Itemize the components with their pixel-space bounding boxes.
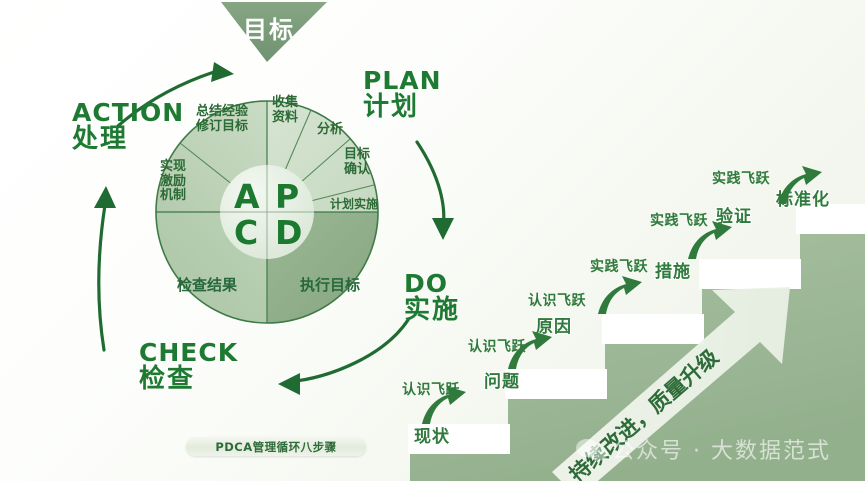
caption-text: PDCA管理循环八步骤: [215, 439, 336, 455]
center-letter-p: P: [275, 180, 299, 213]
check-result-label: 检查结果: [177, 274, 237, 295]
plan-step-0-line1: 收集: [272, 96, 298, 111]
plan-step-1-line1: 分析: [317, 123, 343, 138]
quadrant-label-check: CHECK 检查: [139, 340, 238, 394]
action-step-1: 实现 激励 机制: [160, 160, 186, 204]
goal-label: 目标: [243, 10, 295, 45]
quadrant-label-plan: PLAN 计划: [363, 68, 442, 122]
wechat-logo-icon: [575, 437, 609, 463]
plan-step-2-line2: 确认: [344, 163, 370, 178]
do-eng: DO: [404, 271, 460, 297]
action-step-0: 总结经验 修订目标: [196, 105, 248, 134]
action-eng: ACTION: [72, 100, 184, 126]
center-letter-a: A: [234, 180, 260, 213]
plan-step-2: 目标 确认: [344, 148, 370, 177]
plan-step-3-line1: 计划实施: [330, 198, 378, 211]
plan-step-0-line2: 资料: [272, 111, 298, 126]
plan-eng: PLAN: [363, 68, 442, 94]
center-letter-c: C: [234, 216, 258, 249]
center-letter-d: D: [275, 216, 302, 249]
plan-step-1: 分析: [317, 123, 343, 138]
quadrant-label-action: ACTION 处理: [72, 100, 184, 154]
action-step-0-line1: 总结经验: [196, 105, 248, 120]
caption-pill: PDCA管理循环八步骤: [186, 437, 366, 456]
check-chi: 检查: [139, 366, 238, 393]
check-eng: CHECK: [139, 340, 238, 366]
plan-chi: 计划: [363, 94, 442, 121]
do-target-label: 执行目标: [300, 274, 360, 295]
action-step-1-line1: 实现: [160, 160, 186, 175]
plan-step-2-line1: 目标: [344, 148, 370, 163]
action-step-0-line2: 修订目标: [196, 120, 248, 135]
action-step-1-line2: 激励: [160, 175, 186, 190]
plan-step-0: 收集 资料: [272, 96, 298, 125]
do-chi: 实施: [404, 297, 460, 324]
quadrant-label-do: DO 实施: [404, 271, 460, 325]
watermark-text: 公众号 · 大数据范式: [612, 433, 831, 465]
action-chi: 处理: [72, 126, 184, 153]
pdca-infographic: 现状 问题 原因 措施 验证 标准化 认识飞跃 认识飞跃 认识飞跃 实践飞跃 实…: [0, 0, 865, 481]
action-step-1-line3: 机制: [160, 189, 186, 204]
plan-step-3: 计划实施: [330, 198, 378, 211]
